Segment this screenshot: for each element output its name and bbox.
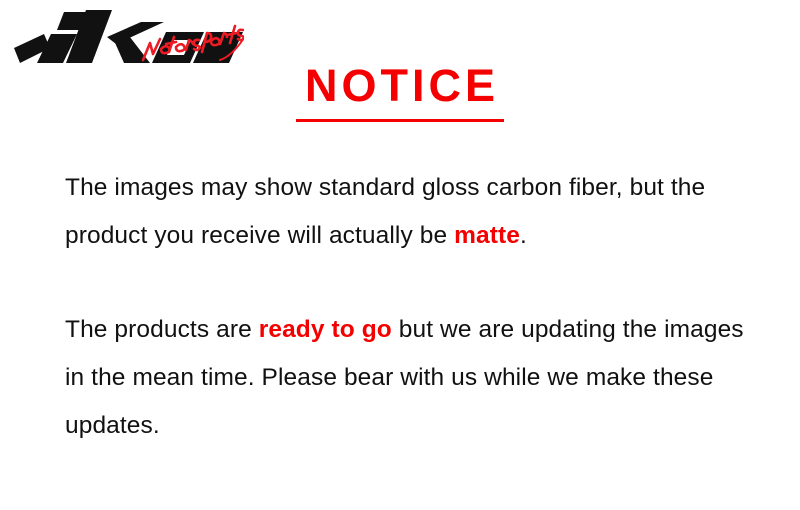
ikon-motorsports-logo-icon	[4, 4, 244, 68]
notice-paragraph-2: The products are ready to go but we are …	[65, 306, 765, 450]
notice-heading-block: NOTICE	[0, 62, 800, 122]
highlighted-text: matte	[454, 222, 520, 249]
notice-body: The images may show standard gloss carbo…	[65, 164, 765, 450]
notice-heading-underline	[296, 119, 504, 122]
notice-paragraph-1: The images may show standard gloss carbo…	[65, 164, 765, 260]
body-text: The images may show standard gloss carbo…	[65, 174, 712, 249]
notice-heading: NOTICE	[295, 62, 505, 113]
body-text: .	[520, 222, 527, 249]
brand-logo	[4, 4, 244, 68]
highlighted-text: ready to go	[259, 316, 392, 343]
paragraph-spacer	[65, 260, 765, 306]
body-text: The products are	[65, 316, 259, 343]
ikon-wordmark-shape	[14, 10, 243, 63]
